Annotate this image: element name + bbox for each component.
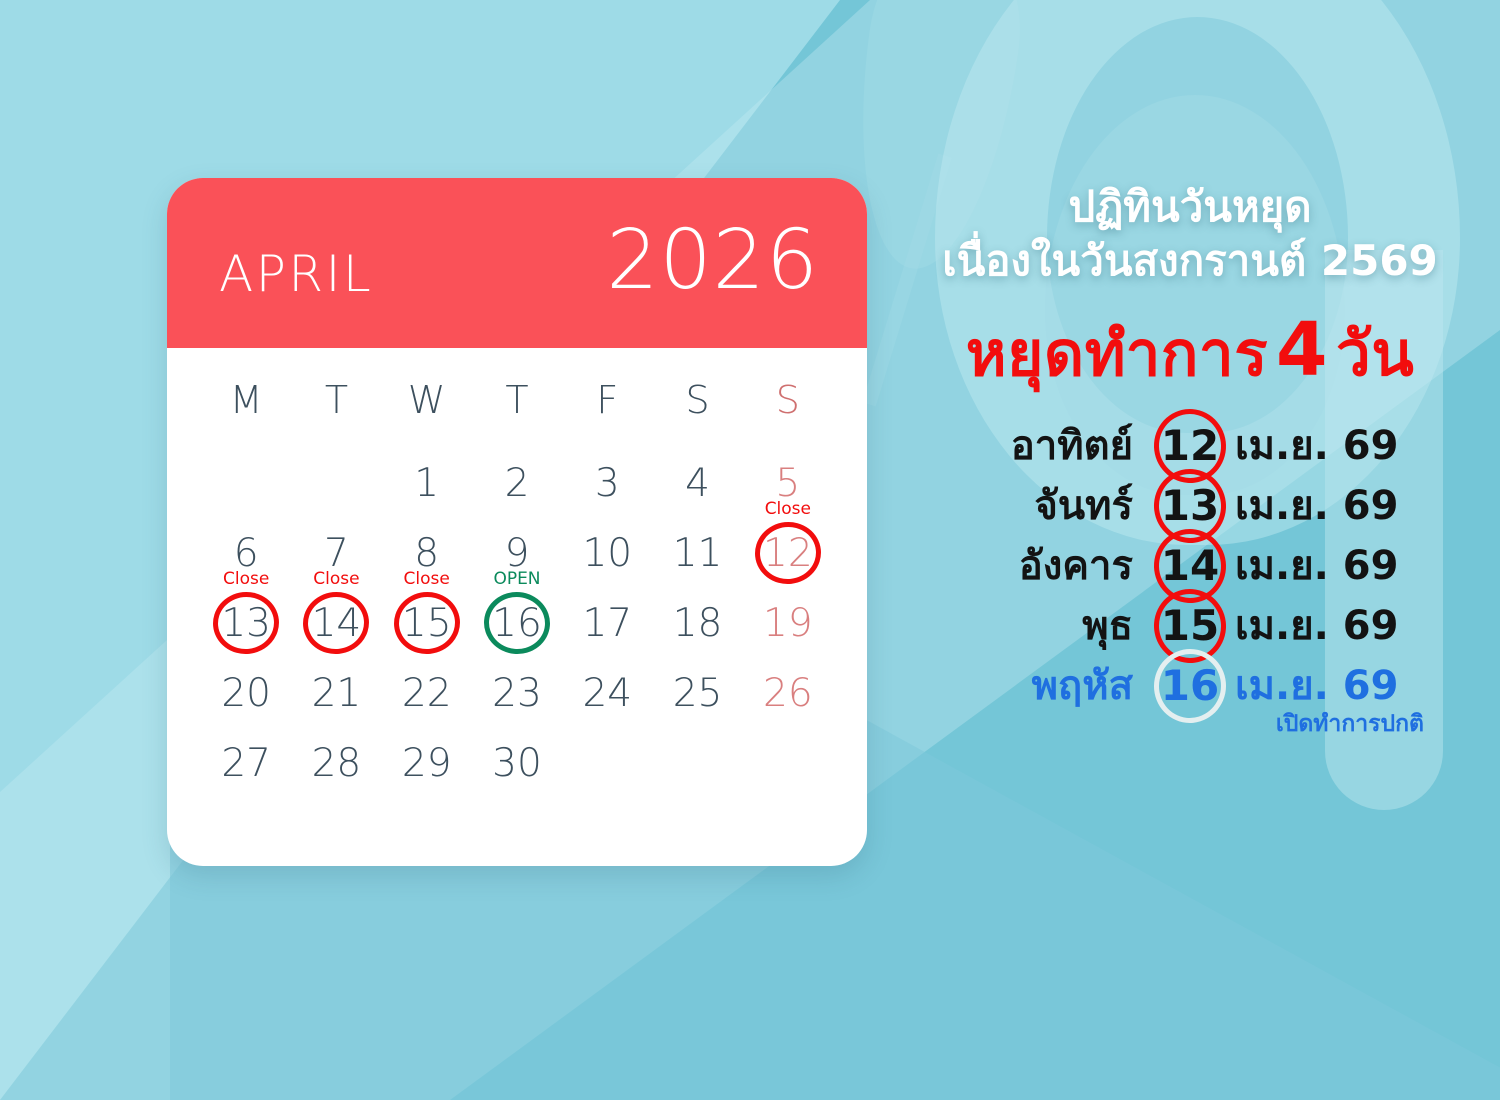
day-number: 9 xyxy=(505,534,530,573)
day-number: 15 xyxy=(402,604,452,643)
calendar-day-1[interactable]: 1 xyxy=(382,448,472,518)
day-number: 26 xyxy=(763,674,813,713)
holiday-date-number: 16 xyxy=(1147,665,1233,707)
holiday-count-prefix: หยุดทำการ xyxy=(966,317,1268,390)
weekday-label-1: T xyxy=(291,378,381,448)
day-status-label: Close xyxy=(765,501,811,518)
day-number: 12 xyxy=(763,534,813,573)
calendar-day-4[interactable]: 4 xyxy=(652,448,742,518)
holiday-count-number: 4 xyxy=(1268,307,1336,393)
holiday-day-list: อาทิตย์12เม.ย. 69จันทร์13เม.ย. 69อังคาร1… xyxy=(900,425,1480,707)
info-panel: ปฏิทินวันหยุด เนื่องในวันสงกรานต์ 2569 ห… xyxy=(900,180,1480,736)
holiday-month-year: เม.ย. 69 xyxy=(1233,426,1480,466)
calendar-day-20[interactable]: 20 xyxy=(201,658,291,728)
day-number: 1 xyxy=(414,464,439,503)
weekday-label-6: S xyxy=(743,378,833,448)
holiday-month-year: เม.ย. 69 xyxy=(1233,606,1480,646)
calendar-day-empty xyxy=(743,728,833,798)
calendar-day-3[interactable]: 3 xyxy=(562,448,652,518)
weekday-label-0: M xyxy=(201,378,291,448)
panel-headline: ปฏิทินวันหยุด เนื่องในวันสงกรานต์ 2569 xyxy=(900,180,1480,288)
day-number: 13 xyxy=(221,604,271,643)
calendar-day-30[interactable]: 30 xyxy=(472,728,562,798)
weekday-header-row: MTWTFSS xyxy=(201,378,833,448)
day-number: 27 xyxy=(221,744,271,783)
day-status-label: Close xyxy=(313,571,359,588)
calendar-month-label: APRIL xyxy=(219,227,373,299)
calendar-day-empty xyxy=(291,448,381,518)
day-number: 16 xyxy=(492,604,542,643)
headline-line-2: เนื่องในวันสงกรานต์ 2569 xyxy=(900,234,1480,288)
holiday-date-number: 13 xyxy=(1147,485,1233,527)
day-number: 24 xyxy=(582,674,632,713)
day-number: 22 xyxy=(402,674,452,713)
day-status-label: OPEN xyxy=(493,571,540,588)
day-number: 17 xyxy=(582,604,632,643)
weekday-label-3: T xyxy=(472,378,562,448)
calendar-day-2[interactable]: 2 xyxy=(472,448,562,518)
day-number: 8 xyxy=(414,534,439,573)
calendar-day-28[interactable]: 28 xyxy=(291,728,381,798)
day-number: 19 xyxy=(763,604,813,643)
holiday-row-14: อังคาร14เม.ย. 69 xyxy=(900,545,1480,587)
calendar-day-22[interactable]: 22 xyxy=(382,658,472,728)
day-number: 28 xyxy=(312,744,362,783)
calendar-day-10[interactable]: 10 xyxy=(562,518,652,588)
day-number: 10 xyxy=(582,534,632,573)
calendar-week-row: 20212223242526 xyxy=(201,658,833,728)
holiday-month-year: เม.ย. 69 xyxy=(1233,666,1480,706)
day-number: 30 xyxy=(492,744,542,783)
calendar-year-label: 2026 xyxy=(606,220,819,306)
day-number: 29 xyxy=(402,744,452,783)
holiday-day-name: พฤหัส xyxy=(900,666,1147,706)
day-number: 2 xyxy=(505,464,530,503)
day-number: 21 xyxy=(312,674,362,713)
day-number: 4 xyxy=(685,464,710,503)
holiday-count-suffix: วัน xyxy=(1336,317,1414,390)
calendar-day-25[interactable]: 25 xyxy=(652,658,742,728)
calendar-day-14[interactable]: Close14 xyxy=(291,588,381,658)
day-number: 11 xyxy=(673,534,723,573)
calendar-weeks: 1234567891011Close12Close13Close14Close1… xyxy=(201,448,833,798)
holiday-date-number: 12 xyxy=(1147,425,1233,467)
calendar-day-13[interactable]: Close13 xyxy=(201,588,291,658)
holiday-date-number: 15 xyxy=(1147,605,1233,647)
holiday-row-15: พุธ15เม.ย. 69 xyxy=(900,605,1480,647)
weekday-label-4: F xyxy=(562,378,652,448)
day-number: 20 xyxy=(221,674,271,713)
calendar-day-21[interactable]: 21 xyxy=(291,658,381,728)
holiday-month-year: เม.ย. 69 xyxy=(1233,546,1480,586)
day-number: 18 xyxy=(673,604,723,643)
day-number: 6 xyxy=(234,534,259,573)
holiday-day-name: พุธ xyxy=(900,606,1147,646)
holiday-row-16: พฤหัส16เม.ย. 69 xyxy=(900,665,1480,707)
calendar-day-24[interactable]: 24 xyxy=(562,658,652,728)
calendar-day-19[interactable]: 19 xyxy=(743,588,833,658)
holiday-row-13: จันทร์13เม.ย. 69 xyxy=(900,485,1480,527)
day-number: 25 xyxy=(673,674,723,713)
weekday-label-2: W xyxy=(382,378,472,448)
calendar-day-empty xyxy=(562,728,652,798)
calendar-header: APRIL 2026 xyxy=(167,178,867,348)
day-number: 23 xyxy=(492,674,542,713)
calendar-day-18[interactable]: 18 xyxy=(652,588,742,658)
calendar-day-27[interactable]: 27 xyxy=(201,728,291,798)
calendar-week-row: Close13Close14Close15OPEN16171819 xyxy=(201,588,833,658)
headline-line-1: ปฏิทินวันหยุด xyxy=(900,180,1480,234)
calendar-day-26[interactable]: 26 xyxy=(743,658,833,728)
calendar-week-row: 27282930 xyxy=(201,728,833,798)
calendar-body: MTWTFSS 1234567891011Close12Close13Close… xyxy=(167,348,867,798)
calendar-day-29[interactable]: 29 xyxy=(382,728,472,798)
calendar-day-empty xyxy=(201,448,291,518)
day-number: 7 xyxy=(324,534,349,573)
holiday-count-banner: หยุดทำการ4วัน xyxy=(900,310,1480,391)
day-number: 5 xyxy=(775,464,800,503)
calendar-day-23[interactable]: 23 xyxy=(472,658,562,728)
calendar-day-15[interactable]: Close15 xyxy=(382,588,472,658)
calendar-day-12[interactable]: Close12 xyxy=(743,518,833,588)
day-number: 14 xyxy=(312,604,362,643)
holiday-day-name: อังคาร xyxy=(900,546,1147,586)
calendar-week-row: 12345 xyxy=(201,448,833,518)
holiday-day-name: จันทร์ xyxy=(900,486,1147,526)
day-status-label: Close xyxy=(223,571,269,588)
holiday-month-year: เม.ย. 69 xyxy=(1233,486,1480,526)
holiday-date-number: 14 xyxy=(1147,545,1233,587)
calendar-day-11[interactable]: 11 xyxy=(652,518,742,588)
calendar-day-empty xyxy=(652,728,742,798)
weekday-label-5: S xyxy=(652,378,742,448)
day-number: 3 xyxy=(595,464,620,503)
day-status-label: Close xyxy=(404,571,450,588)
calendar-day-17[interactable]: 17 xyxy=(562,588,652,658)
calendar-card: APRIL 2026 MTWTFSS 1234567891011Close12C… xyxy=(167,178,867,866)
holiday-row-12: อาทิตย์12เม.ย. 69 xyxy=(900,425,1480,467)
holiday-day-name: อาทิตย์ xyxy=(900,426,1147,466)
calendar-day-16[interactable]: OPEN16 xyxy=(472,588,562,658)
